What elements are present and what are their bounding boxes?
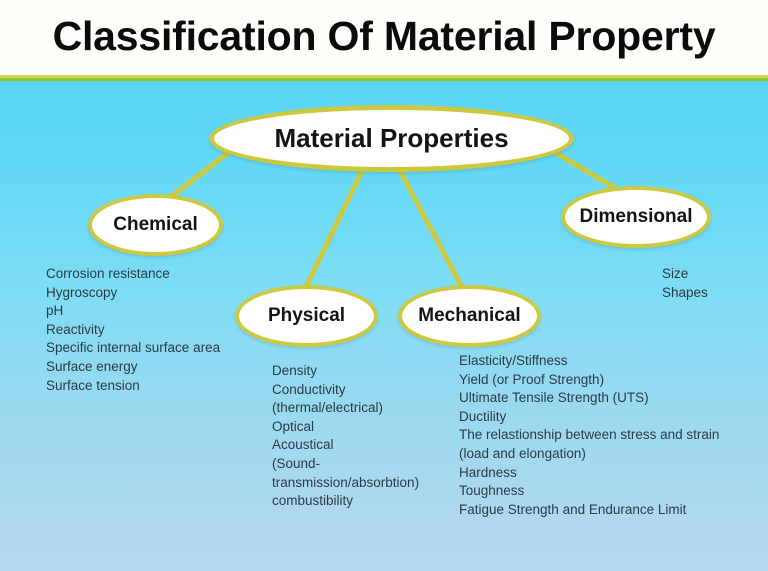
leaf-item: Ultimate Tensile Strength (UTS) [459,389,719,408]
leaf-item: Hardness [459,464,719,483]
leaf-item: Ductility [459,408,719,427]
leaf-item: Surface energy [46,358,220,377]
node-dimensional-label: Dimensional [580,206,693,228]
leaf-item: Corrosion resistance [46,265,220,284]
leaf-item: Conductivity [272,381,419,400]
leaf-item: Elasticity/Stiffness [459,352,719,371]
node-mechanical-label: Mechanical [418,305,520,327]
leaf-item: Surface tension [46,377,220,396]
connector-root-physical [306,171,362,287]
node-physical[interactable]: Physical [235,285,378,347]
node-physical-label: Physical [268,305,345,327]
node-mechanical[interactable]: Mechanical [398,285,541,347]
leaf-item: transmission/absorbtion) [272,474,419,493]
leaf-item: (thermal/electrical) [272,399,419,418]
leaf-item: Toughness [459,482,719,501]
leaf-item: The relastionship between stress and str… [459,426,719,445]
node-chemical[interactable]: Chemical [88,194,223,256]
list-chemical: Corrosion resistanceHygroscopypHReactivi… [46,265,220,395]
connector-root-dimensional [556,153,620,191]
leaf-item: Shapes [662,284,708,303]
node-dimensional[interactable]: Dimensional [561,186,711,248]
leaf-item: Specific internal surface area [46,339,220,358]
diagram-canvas: Material Properties Chemical Physical Me… [0,81,768,571]
list-physical: DensityConductivity(thermal/electrical)O… [272,362,419,511]
leaf-item: Hygroscopy [46,284,220,303]
list-mechanical: Elasticity/StiffnessYield (or Proof Stre… [459,352,719,519]
page-title: Classification Of Material Property [0,13,768,59]
node-root-label: Material Properties [274,123,508,154]
leaf-item: Reactivity [46,321,220,340]
leaf-item: Density [272,362,419,381]
leaf-item: combustibility [272,492,419,511]
leaf-item: pH [46,302,220,321]
leaf-item: Yield (or Proof Strength) [459,371,719,390]
connector-root-chemical [168,153,228,199]
slide-canvas: Classification Of Material Property Mate… [0,0,768,571]
node-material-properties[interactable]: Material Properties [209,105,574,172]
leaf-item: (Sound- [272,455,419,474]
list-dimensional: SizeShapes [662,265,708,302]
leaf-item: Optical [272,418,419,437]
leaf-item: (load and elongation) [459,445,719,464]
node-chemical-label: Chemical [113,214,197,236]
connector-root-mechanical [400,171,462,287]
leaf-item: Size [662,265,708,284]
title-band: Classification Of Material Property [0,0,768,76]
leaf-item: Fatigue Strength and Endurance Limit [459,501,719,520]
leaf-item: Acoustical [272,436,419,455]
